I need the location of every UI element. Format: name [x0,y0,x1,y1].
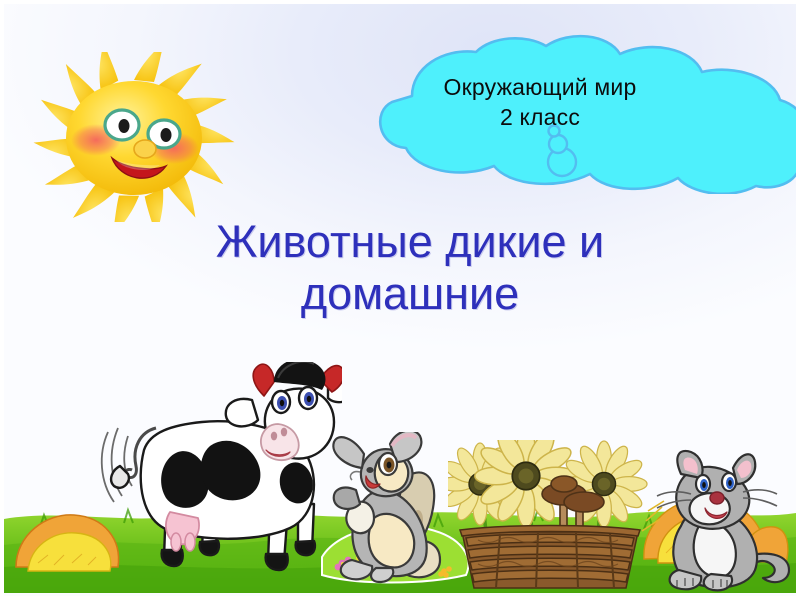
cloud-caption-line-2: 2 класс [360,102,720,132]
presentation-slide: Окружающий мир 2 класс Животные дикие и … [0,0,800,600]
cow [92,362,342,590]
page-title: Животные дикие и домашние [110,216,710,320]
sunflowers-and-basket [448,440,653,592]
cloud-caption-line-1: Окружающий мир [444,74,637,100]
rabbit [330,432,460,592]
cloud-caption: Окружающий мир 2 класс [360,72,720,132]
cat [655,448,795,593]
sun-icon [24,52,244,222]
thought-cloud: Окружающий мир 2 класс [300,34,800,194]
